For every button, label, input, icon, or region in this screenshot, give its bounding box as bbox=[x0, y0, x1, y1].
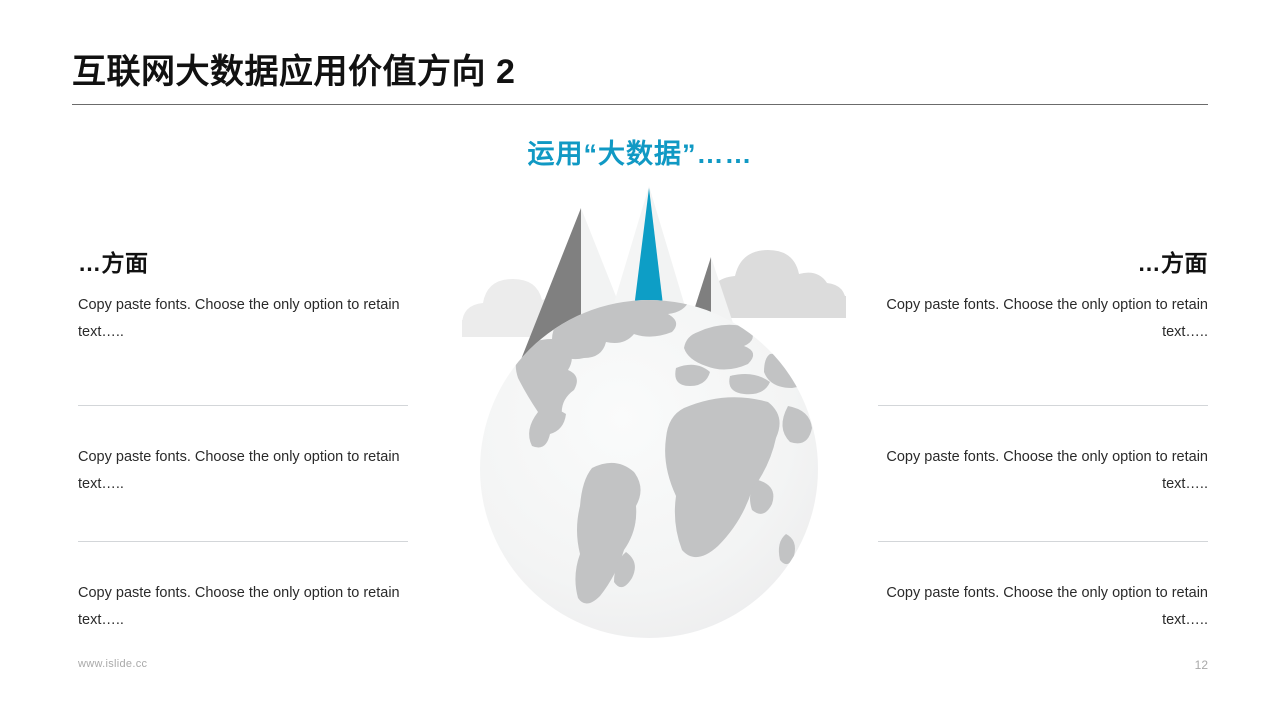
footer-page-number: 12 bbox=[1195, 658, 1208, 672]
title-underline-rule bbox=[72, 104, 1208, 105]
right-column: …方面 Copy paste fonts. Choose the only op… bbox=[878, 248, 1208, 634]
left-column-heading: …方面 bbox=[78, 248, 408, 278]
right-text-segment-1: Copy paste fonts. Choose the only option… bbox=[878, 292, 1208, 405]
subtitle: 运用“大数据”…… bbox=[0, 136, 1280, 172]
globe-illustration bbox=[440, 180, 860, 660]
left-text-segment-3: Copy paste fonts. Choose the only option… bbox=[78, 542, 408, 634]
right-body-text-1: Copy paste fonts. Choose the only option… bbox=[878, 292, 1208, 346]
right-column-heading: …方面 bbox=[878, 248, 1208, 278]
right-body-text-2: Copy paste fonts. Choose the only option… bbox=[878, 444, 1208, 498]
left-text-segment-2: Copy paste fonts. Choose the only option… bbox=[78, 406, 408, 541]
left-column: …方面 Copy paste fonts. Choose the only op… bbox=[78, 248, 408, 634]
footer-url[interactable]: www.islide.cc bbox=[78, 658, 147, 670]
right-text-segment-3: Copy paste fonts. Choose the only option… bbox=[878, 542, 1208, 634]
left-body-text-2: Copy paste fonts. Choose the only option… bbox=[78, 444, 408, 498]
right-body-text-3: Copy paste fonts. Choose the only option… bbox=[878, 580, 1208, 634]
cloud-right-icon bbox=[708, 250, 846, 318]
left-text-segment-1: Copy paste fonts. Choose the only option… bbox=[78, 292, 408, 405]
page-title: 互联网大数据应用价值方向 2 bbox=[72, 50, 515, 94]
left-body-text-1: Copy paste fonts. Choose the only option… bbox=[78, 292, 408, 346]
left-body-text-3: Copy paste fonts. Choose the only option… bbox=[78, 580, 408, 634]
right-text-segment-2: Copy paste fonts. Choose the only option… bbox=[878, 406, 1208, 541]
